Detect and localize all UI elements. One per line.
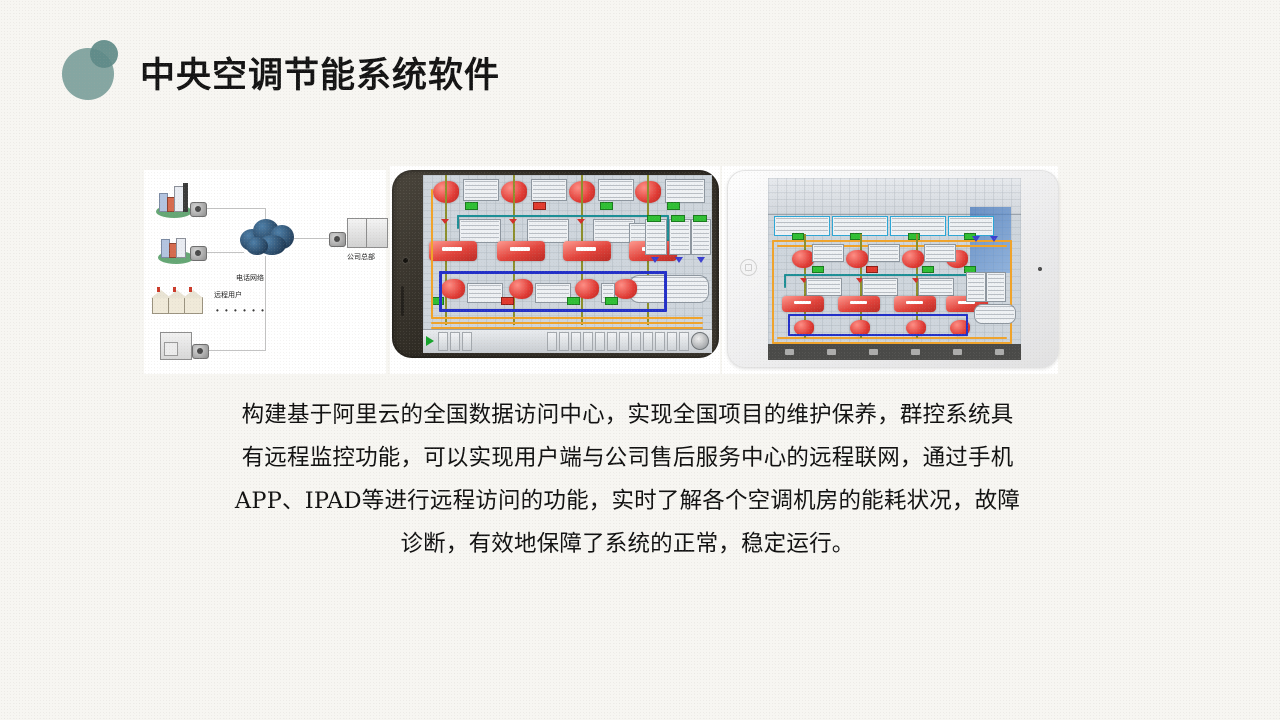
pump-bottom-4 <box>613 279 637 299</box>
toolbar-button-9[interactable] <box>607 332 617 350</box>
nav-refresh-icon[interactable] <box>827 349 836 355</box>
control-card-3 <box>691 219 711 255</box>
pump-bottom-2 <box>509 279 533 299</box>
power-loop-riser <box>431 189 433 319</box>
dark-tablet-screen <box>423 175 712 353</box>
router-icon-site2 <box>190 246 207 261</box>
status-led-top-4 <box>667 202 680 210</box>
white-tablet-body <box>727 170 1059 368</box>
toolbar-button-14[interactable] <box>667 332 677 350</box>
pump-led-3 <box>922 266 934 273</box>
flow-arrow-3 <box>697 257 705 263</box>
flow-arrow-2 <box>990 236 998 242</box>
link-site2-to-cloud <box>202 252 244 253</box>
control-led-1 <box>647 215 661 222</box>
brand-logo <box>62 40 124 102</box>
chilled-water-riser-right <box>966 314 968 336</box>
page-title: 中央空调节能系统软件 <box>140 58 500 93</box>
white-tablet-screen <box>768 178 1021 360</box>
chilled-water-riser-left <box>788 314 790 336</box>
toolbar-button-12[interactable] <box>643 332 653 350</box>
link-site4-to-cloud <box>202 350 266 351</box>
toolbar-button-3[interactable] <box>462 332 472 350</box>
power-ring-bottom-inner <box>777 337 1007 339</box>
toolbar-button-2[interactable] <box>450 332 460 350</box>
databox-top-2 <box>868 244 900 262</box>
databox-bottom-2 <box>535 283 571 303</box>
databox-mid-3 <box>918 278 954 296</box>
databox-top-1 <box>463 179 499 201</box>
power-ring-right <box>1010 240 1012 344</box>
figure-row: 远程用户 • • • • • • 电话网络 公司总部 <box>0 166 1280 374</box>
front-camera-icon <box>1038 267 1042 271</box>
status-led-bottom-4 <box>605 297 618 305</box>
databox-mid-2 <box>862 278 898 296</box>
logo-circle-small <box>90 40 118 68</box>
toolbar-button-8[interactable] <box>595 332 605 350</box>
residential-houses-icon <box>152 288 206 314</box>
home-button-icon[interactable] <box>740 259 757 276</box>
scada-mimic-dark <box>423 175 712 353</box>
databox-top-4 <box>665 179 705 203</box>
pump-led-2 <box>866 266 878 273</box>
chiller-3 <box>894 296 936 312</box>
toolbar-button-5[interactable] <box>559 332 569 350</box>
cooling-water-drop-1 <box>784 274 786 288</box>
tower-led-3 <box>908 233 920 240</box>
body-line-1: 构建基于阿里云的全国数据访问中心，实现全国项目的维护保养，群控系统具 <box>205 394 1050 437</box>
cooling-water-header <box>784 274 974 276</box>
nav-settings-icon[interactable] <box>953 349 962 355</box>
status-led-top-2 <box>533 202 546 210</box>
nav-menu-icon[interactable] <box>995 349 1004 355</box>
valve-2 <box>509 219 517 224</box>
chilled-water-return <box>788 334 968 336</box>
label-remote-users: 远程用户 <box>214 290 242 300</box>
dark-tablet-body <box>392 170 719 358</box>
status-led-bottom-2 <box>501 297 514 305</box>
toolbar-button-6[interactable] <box>571 332 581 350</box>
flow-arrow-1 <box>651 257 659 263</box>
air-handling-unit <box>629 275 709 303</box>
valve-1 <box>441 219 449 224</box>
link-lower-riser <box>265 256 266 351</box>
speaker-slot <box>401 286 404 316</box>
chilled-water-return <box>439 309 667 312</box>
flow-arrow-1 <box>972 236 980 242</box>
flow-arrow-2 <box>675 257 683 263</box>
chilled-water-supply <box>788 314 968 316</box>
label-ellipsis-dots: • • • • • • <box>216 306 266 315</box>
pump-bottom-3 <box>575 279 599 299</box>
cooling-water-header <box>457 215 669 217</box>
air-handling-unit <box>974 304 1016 324</box>
chiller-2 <box>838 296 880 312</box>
pump-top-2 <box>846 250 868 268</box>
telephone-network-cloud-icon <box>240 215 296 257</box>
server-icon-site4 <box>160 332 192 360</box>
pump-top-1 <box>792 250 814 268</box>
link-site1-to-cloud <box>202 208 266 209</box>
toolbar-button-1[interactable] <box>438 332 448 350</box>
headquarters-servers-icon <box>347 218 389 248</box>
tablet-nav-bar[interactable] <box>768 344 1021 360</box>
status-led-bottom-3 <box>567 297 580 305</box>
chiller-1 <box>782 296 824 312</box>
toolbar-button-11[interactable] <box>631 332 641 350</box>
chilled-water-supply <box>439 271 667 274</box>
toolbar-button-13[interactable] <box>655 332 665 350</box>
body-line-3: APP、IPAD等进行远程访问的功能，实时了解各个空调机房的能耗状况，故障 <box>205 480 1050 523</box>
label-company-hq: 公司总部 <box>347 252 375 262</box>
label-telephone-network: 电话网络 <box>236 273 264 283</box>
white-tablet-figure <box>722 166 1058 374</box>
nav-address-field[interactable] <box>911 349 920 355</box>
toolbar-button-10[interactable] <box>619 332 629 350</box>
router-icon-site1 <box>190 202 207 217</box>
control-card-1 <box>645 219 667 255</box>
toolbar-button-15[interactable] <box>679 332 689 350</box>
network-topology-figure: 远程用户 • • • • • • 电话网络 公司总部 <box>144 170 386 374</box>
link-cloud-to-hq <box>294 238 332 239</box>
databox-mid-1 <box>459 219 501 243</box>
nav-tools-icon[interactable] <box>869 349 878 355</box>
databox-mid-2 <box>527 219 569 243</box>
status-led-top-3 <box>600 202 613 210</box>
pump-led-1 <box>812 266 824 273</box>
databox-top-3 <box>924 244 956 262</box>
chiller-3 <box>563 241 611 261</box>
toolbar-button-7[interactable] <box>583 332 593 350</box>
run-icon[interactable] <box>426 336 434 346</box>
power-loop-2 <box>431 322 703 324</box>
control-led-2 <box>671 215 685 222</box>
power-ring-left <box>772 240 774 344</box>
power-loop-1 <box>431 317 703 319</box>
pump-top-3 <box>902 250 924 268</box>
body-line-4: 诊断，有效地保障了系统的正常，稳定运行。 <box>205 523 1050 566</box>
body-line-2: 有远程监控功能，可以实现用户端与公司售后服务中心的远程联网，通过手机 <box>205 437 1050 480</box>
scada-toolbar[interactable] <box>423 329 712 353</box>
vendor-logo-icon <box>691 332 709 350</box>
control-led-3 <box>693 215 707 222</box>
status-led-top-1 <box>465 202 478 210</box>
tower-led-1 <box>792 233 804 240</box>
databox-top-1 <box>812 244 844 262</box>
chiller-2 <box>497 241 545 261</box>
databox-top-2 <box>531 179 567 201</box>
control-card-2 <box>669 219 691 255</box>
databox-bottom-1 <box>467 283 503 303</box>
databox-top-3 <box>598 179 634 201</box>
valve-3 <box>577 219 585 224</box>
front-camera-icon <box>403 258 408 263</box>
scada-mimic-white <box>768 178 1021 360</box>
control-card-2 <box>986 272 1006 302</box>
router-icon-hq <box>329 232 346 247</box>
body-paragraph: 构建基于阿里云的全国数据访问中心，实现全国项目的维护保养，群控系统具 有远程监控… <box>205 394 1050 566</box>
control-card-1 <box>966 272 986 302</box>
chilled-water-riser-right <box>664 271 667 311</box>
toolbar-button-4[interactable] <box>547 332 557 350</box>
chiller-1 <box>429 241 477 261</box>
router-icon-site4 <box>192 344 209 359</box>
chilled-water-riser-left <box>439 271 442 311</box>
network-diagram-canvas: 远程用户 • • • • • • 电话网络 公司总部 <box>144 170 386 374</box>
nav-close-icon[interactable] <box>785 349 794 355</box>
pump-bottom-1 <box>441 279 465 299</box>
dark-tablet-figure <box>390 166 720 374</box>
databox-mid-1 <box>806 278 842 296</box>
